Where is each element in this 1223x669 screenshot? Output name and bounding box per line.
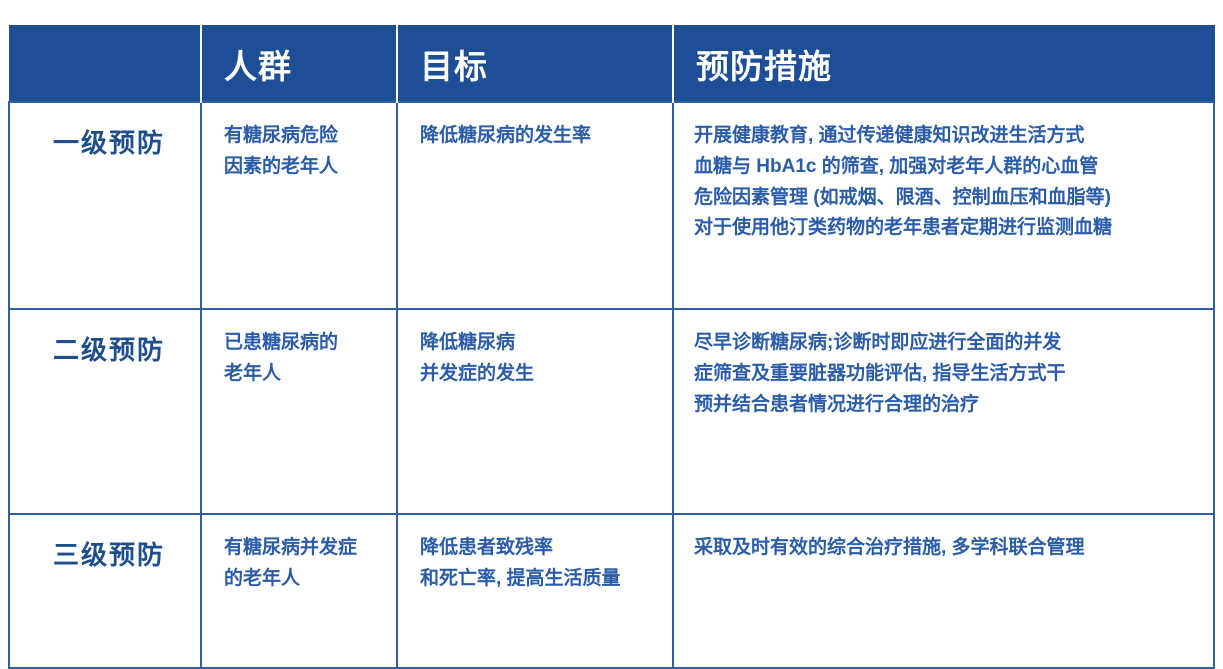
header-cell-goal: 目标 — [397, 26, 673, 103]
cell-text-line: 老年人 — [224, 359, 382, 390]
diabetes-prevention-table: 人群 目标 预防措施 一级预防 有糖尿病危险 因素的老年人 降低糖尿病的发生率 … — [8, 25, 1215, 669]
cell-text-line: 的老年人 — [224, 564, 382, 595]
prevention-table-container: 人群 目标 预防措施 一级预防 有糖尿病危险 因素的老年人 降低糖尿病的发生率 … — [8, 25, 1213, 582]
cell-goal-tertiary: 降低患者致残率 和死亡率, 提高生活质量 — [397, 514, 673, 668]
cell-text-line: 因素的老年人 — [224, 152, 382, 183]
cell-population-tertiary: 有糖尿病并发症 的老年人 — [201, 514, 397, 668]
cell-text-line: 开展健康教育, 通过传递健康知识改进生活方式 — [694, 121, 1203, 152]
header-row: 人群 目标 预防措施 — [9, 26, 1214, 103]
cell-measures-secondary: 尽早诊断糖尿病;诊断时即应进行全面的并发 症筛查及重要脏器功能评估, 指导生活方… — [673, 309, 1214, 514]
table-row: 二级预防 已患糖尿病的 老年人 降低糖尿病 并发症的发生 尽早诊断糖尿病;诊断时… — [9, 309, 1214, 514]
cell-level-secondary: 二级预防 — [9, 309, 201, 514]
table-header: 人群 目标 预防措施 — [9, 26, 1214, 103]
cell-text-line: 并发症的发生 — [420, 359, 658, 390]
cell-population-secondary: 已患糖尿病的 老年人 — [201, 309, 397, 514]
header-cell-population: 人群 — [201, 26, 397, 103]
cell-text-line: 降低糖尿病 — [420, 328, 658, 359]
cell-text-line: 和死亡率, 提高生活质量 — [420, 564, 658, 595]
cell-text-line: 采取及时有效的综合治疗措施, 多学科联合管理 — [694, 533, 1203, 564]
cell-text-line: 已患糖尿病的 — [224, 328, 382, 359]
table-row: 三级预防 有糖尿病并发症 的老年人 降低患者致残率 和死亡率, 提高生活质量 采… — [9, 514, 1214, 668]
cell-measures-primary: 开展健康教育, 通过传递健康知识改进生活方式 血糖与 HbA1c 的筛查, 加强… — [673, 102, 1214, 309]
cell-text-line: 危险因素管理 (如戒烟、限酒、控制血压和血脂等) — [694, 183, 1203, 214]
cell-population-primary: 有糖尿病危险 因素的老年人 — [201, 102, 397, 309]
header-cell-measures: 预防措施 — [673, 26, 1214, 103]
cell-text-line: 血糖与 HbA1c 的筛查, 加强对老年人群的心血管 — [694, 152, 1203, 183]
table-body: 一级预防 有糖尿病危险 因素的老年人 降低糖尿病的发生率 开展健康教育, 通过传… — [9, 102, 1214, 668]
cell-level-primary: 一级预防 — [9, 102, 201, 309]
cell-level-tertiary: 三级预防 — [9, 514, 201, 668]
cell-text-line: 症筛查及重要脏器功能评估, 指导生活方式干 — [694, 359, 1203, 390]
header-cell-level — [9, 26, 201, 103]
cell-measures-tertiary: 采取及时有效的综合治疗措施, 多学科联合管理 — [673, 514, 1214, 668]
cell-text-line: 降低患者致残率 — [420, 533, 658, 564]
cell-goal-primary: 降低糖尿病的发生率 — [397, 102, 673, 309]
cell-text-line: 降低糖尿病的发生率 — [420, 121, 658, 152]
cell-text-line: 有糖尿病危险 — [224, 121, 382, 152]
cell-text-line: 有糖尿病并发症 — [224, 533, 382, 564]
table-row: 一级预防 有糖尿病危险 因素的老年人 降低糖尿病的发生率 开展健康教育, 通过传… — [9, 102, 1214, 309]
cell-text-line: 尽早诊断糖尿病;诊断时即应进行全面的并发 — [694, 328, 1203, 359]
cell-goal-secondary: 降低糖尿病 并发症的发生 — [397, 309, 673, 514]
cell-text-line: 对于使用他汀类药物的老年患者定期进行监测血糖 — [694, 213, 1203, 244]
cell-text-line: 预并结合患者情况进行合理的治疗 — [694, 390, 1203, 421]
